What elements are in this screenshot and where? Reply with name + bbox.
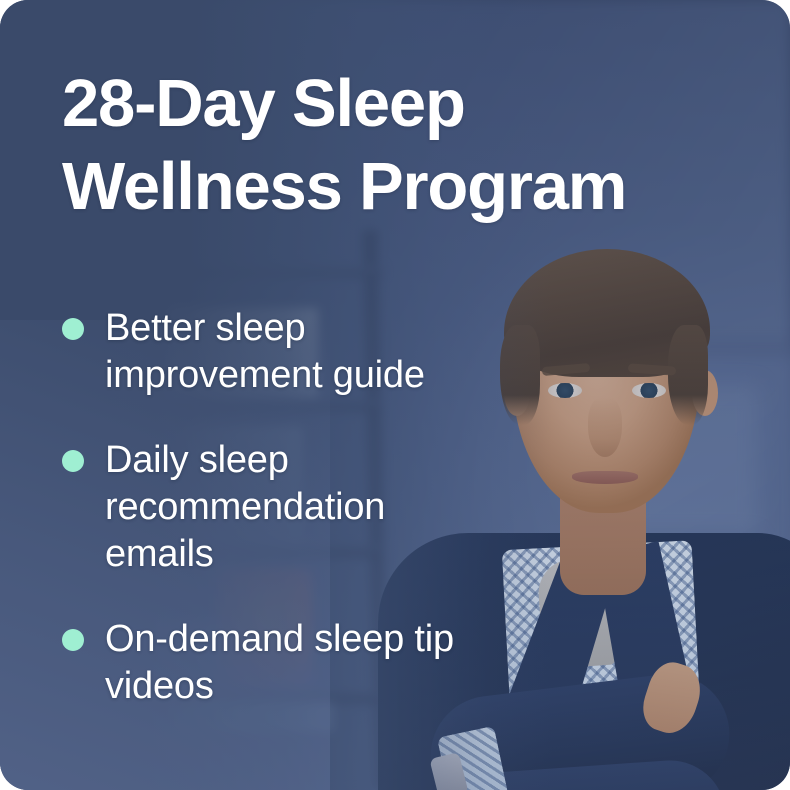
list-item: Better sleep improvement guide: [62, 305, 462, 399]
benefit-label: Daily sleep recommendation emails: [105, 439, 385, 575]
headline-line-2: Wellness Program: [62, 145, 752, 228]
card-content: 28-Day Sleep Wellness Program Better sle…: [0, 0, 790, 790]
bullet-dot-icon: [62, 629, 84, 651]
benefit-label: Better sleep improvement guide: [105, 307, 425, 396]
benefit-label: On-demand sleep tip videos: [105, 618, 454, 707]
bullet-dot-icon: [62, 450, 84, 472]
page-title: 28-Day Sleep Wellness Program: [62, 62, 752, 228]
list-item: Daily sleep recommendation emails: [62, 437, 462, 578]
list-item: On-demand sleep tip videos: [62, 616, 462, 710]
headline-line-1: 28-Day Sleep: [62, 62, 752, 145]
bullet-dot-icon: [62, 318, 84, 340]
sleep-program-promo-card: 28-Day Sleep Wellness Program Better sle…: [0, 0, 790, 790]
benefits-list: Better sleep improvement guide Daily sle…: [62, 305, 462, 710]
